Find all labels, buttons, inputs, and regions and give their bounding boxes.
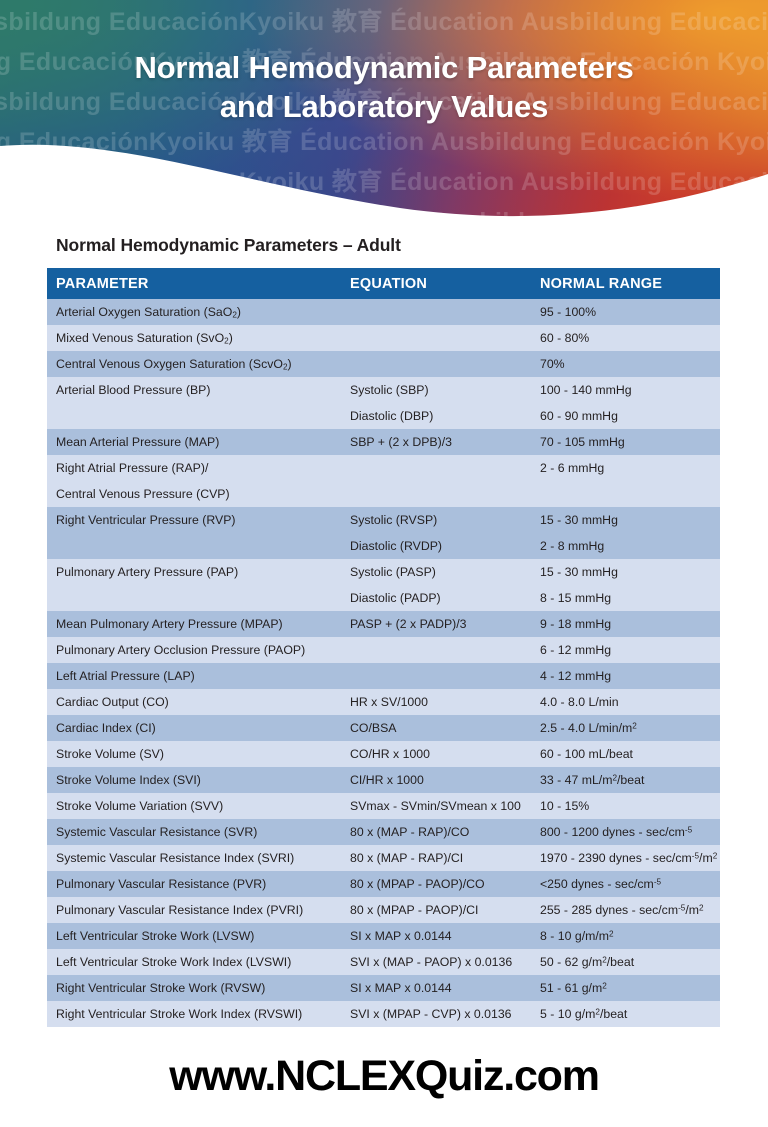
cell-equation: Systolic (PASP)Diastolic (PADP)	[350, 559, 540, 611]
cell-equation: HR x SV/1000	[350, 689, 540, 715]
table-header-row: PARAMETER EQUATION NORMAL RANGE	[47, 268, 720, 299]
cell-parameter: Left Atrial Pressure (LAP)	[47, 663, 350, 689]
footer-url: www.NCLEXQuiz.com	[0, 1052, 768, 1101]
cell-equation: 80 x (MPAP - PAOP)/CO	[350, 871, 540, 897]
cell-parameter: Stroke Volume (SV)	[47, 741, 350, 767]
table-row: Cardiac Output (CO)HR x SV/10004.0 - 8.0…	[47, 689, 720, 715]
table-row: Systemic Vascular Resistance (SVR)80 x (…	[47, 819, 720, 845]
cell-normal-range: 10 - 15%	[540, 793, 720, 819]
cell-equation	[350, 455, 540, 507]
cell-parameter: Pulmonary Artery Occlusion Pressure (PAO…	[47, 637, 350, 663]
cell-normal-range: 95 - 100%	[540, 299, 720, 325]
cell-equation: SVI x (MPAP - CVP) x 0.0136	[350, 1001, 540, 1027]
cell-parameter: Systemic Vascular Resistance Index (SVRI…	[47, 845, 350, 871]
cell-normal-range: 4.0 - 8.0 L/min	[540, 689, 720, 715]
cell-normal-range: 33 - 47 mL/m2/beat	[540, 767, 720, 793]
cell-normal-range: 6 - 12 mmHg	[540, 637, 720, 663]
cell-equation: CO/BSA	[350, 715, 540, 741]
cell-equation	[350, 663, 540, 689]
table-body: Arterial Oxygen Saturation (SaO2)95 - 10…	[47, 299, 720, 1027]
cell-parameter: Stroke Volume Variation (SVV)	[47, 793, 350, 819]
cell-equation	[350, 637, 540, 663]
cell-normal-range: 15 - 30 mmHg2 - 8 mmHg	[540, 507, 720, 559]
cell-normal-range: 60 - 80%	[540, 325, 720, 351]
cell-equation	[350, 351, 540, 377]
table-row: Stroke Volume (SV)CO/HR x 100060 - 100 m…	[47, 741, 720, 767]
cell-equation: SI x MAP x 0.0144	[350, 923, 540, 949]
page-title-line-2: and Laboratory Values	[0, 87, 768, 126]
table-row: Cardiac Index (CI)CO/BSA2.5 - 4.0 L/min/…	[47, 715, 720, 741]
page-root: Ausbildung EducaciónKyoiku 教育 Éducation …	[0, 0, 768, 1127]
cell-normal-range: 2 - 6 mmHg	[540, 455, 720, 507]
table-row: Mean Arterial Pressure (MAP)SBP + (2 x D…	[47, 429, 720, 455]
cell-parameter: Arterial Oxygen Saturation (SaO2)	[47, 299, 350, 325]
table-title: Normal Hemodynamic Parameters – Adult	[56, 235, 401, 256]
table-row: Left Ventricular Stroke Work Index (LVSW…	[47, 949, 720, 975]
cell-normal-range: 9 - 18 mmHg	[540, 611, 720, 637]
cell-equation: Systolic (RVSP)Diastolic (RVDP)	[350, 507, 540, 559]
cell-equation: SVmax - SVmin/SVmean x 100	[350, 793, 540, 819]
cell-normal-range: 50 - 62 g/m2/beat	[540, 949, 720, 975]
cell-parameter: Systemic Vascular Resistance (SVR)	[47, 819, 350, 845]
cell-equation	[350, 299, 540, 325]
table-row: Right Ventricular Stroke Work Index (RVS…	[47, 1001, 720, 1027]
cell-normal-range: 800 - 1200 dynes - sec/cm-5	[540, 819, 720, 845]
cell-equation: PASP + (2 x PADP)/3	[350, 611, 540, 637]
cell-parameter: Right Ventricular Stroke Work (RVSW)	[47, 975, 350, 1001]
cell-parameter: Pulmonary Artery Pressure (PAP)	[47, 559, 350, 611]
cell-parameter: Mean Pulmonary Artery Pressure (MPAP)	[47, 611, 350, 637]
table-row: Systemic Vascular Resistance Index (SVRI…	[47, 845, 720, 871]
page-title-line-1: Normal Hemodynamic Parameters	[0, 48, 768, 87]
cell-equation: 80 x (MAP - RAP)/CO	[350, 819, 540, 845]
cell-parameter: Cardiac Output (CO)	[47, 689, 350, 715]
table-row: Stroke Volume Index (SVI)CI/HR x 100033 …	[47, 767, 720, 793]
cell-parameter: Pulmonary Vascular Resistance Index (PVR…	[47, 897, 350, 923]
cell-normal-range: 15 - 30 mmHg8 - 15 mmHg	[540, 559, 720, 611]
column-header-equation: EQUATION	[350, 276, 540, 292]
cell-normal-range: 60 - 100 mL/beat	[540, 741, 720, 767]
table-row: Left Atrial Pressure (LAP)4 - 12 mmHg	[47, 663, 720, 689]
watermark-line: Ausbildung EducaciónKyoiku 教育 Éducation …	[0, 2, 728, 42]
cell-equation: SBP + (2 x DPB)/3	[350, 429, 540, 455]
table-row: Pulmonary Artery Pressure (PAP)Systolic …	[47, 559, 720, 611]
hemodynamic-parameters-table: PARAMETER EQUATION NORMAL RANGE Arterial…	[47, 268, 720, 1027]
cell-parameter: Right Atrial Pressure (RAP)/Central Veno…	[47, 455, 350, 507]
cell-equation: 80 x (MPAP - PAOP)/CI	[350, 897, 540, 923]
cell-equation: CO/HR x 1000	[350, 741, 540, 767]
banner-wave-shape	[0, 112, 768, 222]
cell-parameter: Right Ventricular Pressure (RVP)	[47, 507, 350, 559]
cell-equation	[350, 325, 540, 351]
cell-normal-range: 100 - 140 mmHg60 - 90 mmHg	[540, 377, 720, 429]
table-row: Pulmonary Vascular Resistance (PVR)80 x …	[47, 871, 720, 897]
table-row: Right Ventricular Stroke Work (RVSW)SI x…	[47, 975, 720, 1001]
cell-normal-range: 8 - 10 g/m/m2	[540, 923, 720, 949]
cell-equation: CI/HR x 1000	[350, 767, 540, 793]
cell-normal-range: 2.5 - 4.0 L/min/m2	[540, 715, 720, 741]
cell-parameter: Stroke Volume Index (SVI)	[47, 767, 350, 793]
cell-parameter: Mixed Venous Saturation (SvO2)	[47, 325, 350, 351]
cell-normal-range: <250 dynes - sec/cm-5	[540, 871, 720, 897]
table-row: Central Venous Oxygen Saturation (ScvO2)…	[47, 351, 720, 377]
cell-parameter: Arterial Blood Pressure (BP)	[47, 377, 350, 429]
cell-equation: SI x MAP x 0.0144	[350, 975, 540, 1001]
cell-equation: 80 x (MAP - RAP)/CI	[350, 845, 540, 871]
cell-normal-range: 70 - 105 mmHg	[540, 429, 720, 455]
cell-equation: Systolic (SBP)Diastolic (DBP)	[350, 377, 540, 429]
table-row: Stroke Volume Variation (SVV)SVmax - SVm…	[47, 793, 720, 819]
cell-normal-range: 1970 - 2390 dynes - sec/cm-5/m2	[540, 845, 720, 871]
column-header-parameter: PARAMETER	[47, 276, 350, 292]
cell-normal-range: 70%	[540, 351, 720, 377]
table-row: Left Ventricular Stroke Work (LVSW)SI x …	[47, 923, 720, 949]
cell-parameter: Right Ventricular Stroke Work Index (RVS…	[47, 1001, 350, 1027]
column-header-normal-range: NORMAL RANGE	[540, 276, 720, 292]
cell-parameter: Pulmonary Vascular Resistance (PVR)	[47, 871, 350, 897]
table-row: Pulmonary Artery Occlusion Pressure (PAO…	[47, 637, 720, 663]
cell-normal-range: 51 - 61 g/m2	[540, 975, 720, 1001]
cell-normal-range: 5 - 10 g/m2/beat	[540, 1001, 720, 1027]
cell-parameter: Left Ventricular Stroke Work (LVSW)	[47, 923, 350, 949]
table-row: Right Atrial Pressure (RAP)/Central Veno…	[47, 455, 720, 507]
header-banner: Ausbildung EducaciónKyoiku 教育 Éducation …	[0, 0, 768, 222]
table-row: Arterial Oxygen Saturation (SaO2)95 - 10…	[47, 299, 720, 325]
table-row: Mean Pulmonary Artery Pressure (MPAP)PAS…	[47, 611, 720, 637]
cell-parameter: Mean Arterial Pressure (MAP)	[47, 429, 350, 455]
cell-equation: SVI x (MAP - PAOP) x 0.0136	[350, 949, 540, 975]
table-row: Right Ventricular Pressure (RVP)Systolic…	[47, 507, 720, 559]
cell-normal-range: 4 - 12 mmHg	[540, 663, 720, 689]
table-row: Pulmonary Vascular Resistance Index (PVR…	[47, 897, 720, 923]
table-row: Arterial Blood Pressure (BP)Systolic (SB…	[47, 377, 720, 429]
table-row: Mixed Venous Saturation (SvO2)60 - 80%	[47, 325, 720, 351]
page-title: Normal Hemodynamic Parameters and Labora…	[0, 48, 768, 126]
cell-parameter: Left Ventricular Stroke Work Index (LVSW…	[47, 949, 350, 975]
cell-parameter: Central Venous Oxygen Saturation (ScvO2)	[47, 351, 350, 377]
cell-parameter: Cardiac Index (CI)	[47, 715, 350, 741]
cell-normal-range: 255 - 285 dynes - sec/cm-5/m2	[540, 897, 720, 923]
